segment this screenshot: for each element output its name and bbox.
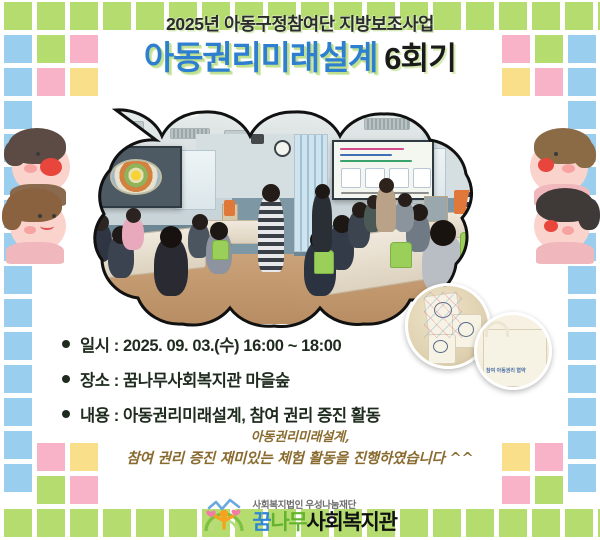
detail-row-date: 일시 : 2025. 09. 03.(수) 16:00 ~ 18:00 bbox=[62, 332, 380, 356]
border-square bbox=[4, 398, 32, 426]
poster-root: 2025년 아동구정참여단 지방보조사업 아동권리미래설계 6회기 bbox=[0, 0, 600, 540]
detail-text-date: 일시 : 2025. 09. 03.(수) 16:00 ~ 18:00 bbox=[80, 332, 341, 356]
org-name-part3: 사회복지관 bbox=[306, 511, 396, 534]
event-details: 일시 : 2025. 09. 03.(수) 16:00 ~ 18:00 장소 :… bbox=[62, 332, 380, 437]
page-title: 아동권리미래설계 bbox=[144, 40, 377, 77]
bullet-icon bbox=[62, 410, 70, 418]
organization-name: 꿈나무사회복지관 bbox=[252, 512, 396, 534]
org-name-part1: 꿈 bbox=[252, 511, 270, 534]
detail-text-place: 장소 : 꿈나무사회복지관 마을숲 bbox=[80, 367, 290, 391]
caption-line-1: 아동권리미래설계, bbox=[0, 428, 600, 448]
detail-text-content: 내용 : 아동권리미래설계, 참여 권리 증진 활동 bbox=[80, 402, 380, 426]
photo-left-classroom bbox=[46, 104, 301, 324]
program-subtitle: 2025년 아동구정참여단 지방보조사업 bbox=[0, 14, 600, 36]
border-square bbox=[4, 101, 32, 129]
handwritten-caption: 아동권리미래설계, 참여 권리 증진 재미있는 체험 활동을 진행하였습니다 ^… bbox=[0, 428, 600, 469]
footer-logo: 사회복지법인 우성나눔재단 꿈나무사회복지관 bbox=[0, 498, 600, 534]
border-square bbox=[4, 332, 32, 360]
border-square bbox=[4, 365, 32, 393]
photo-inset-ecobags-2: 참여 아동권리 협약 bbox=[474, 312, 552, 390]
caption-line-2: 참여 권리 증진 재미있는 체험 활동을 진행하였습니다 ^^ bbox=[0, 448, 600, 470]
border-square bbox=[4, 299, 32, 327]
cartoon-kid-right-bottom bbox=[528, 186, 600, 256]
dreamtree-logo-icon bbox=[203, 498, 245, 534]
logo-text-block: 사회복지법인 우성나눔재단 꿈나무사회복지관 bbox=[252, 501, 396, 534]
border-square bbox=[568, 299, 596, 327]
border-square bbox=[4, 266, 32, 294]
border-square bbox=[568, 332, 596, 360]
border-square bbox=[568, 101, 596, 129]
border-square bbox=[568, 365, 596, 393]
org-name-part2: 나무 bbox=[270, 511, 306, 534]
bullet-icon bbox=[62, 375, 70, 383]
session-number: 6회기 bbox=[384, 42, 456, 77]
poster-header: 2025년 아동구정참여단 지방보조사업 아동권리미래설계 6회기 bbox=[0, 14, 600, 77]
detail-row-content: 내용 : 아동권리미래설계, 참여 권리 증진 활동 bbox=[62, 402, 380, 426]
detail-row-place: 장소 : 꿈나무사회복지관 마을숲 bbox=[62, 367, 380, 391]
title-row: 아동권리미래설계 6회기 bbox=[0, 40, 600, 77]
foundation-name: 사회복지법인 우성나눔재단 bbox=[252, 501, 396, 511]
cartoon-kid-left-bottom bbox=[0, 186, 72, 256]
bullet-icon bbox=[62, 340, 70, 348]
border-square bbox=[568, 398, 596, 426]
border-square bbox=[568, 266, 596, 294]
